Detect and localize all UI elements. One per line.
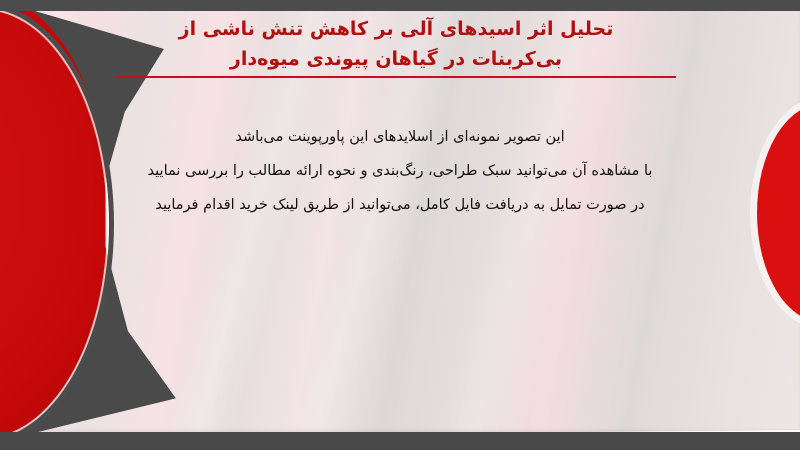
title-underline — [116, 76, 676, 78]
frame-top-band — [0, 0, 800, 11]
slide-body: این تصویر نمونه‌ای از اسلایدهای این پاور… — [95, 120, 705, 222]
red-ellipse-left-shading — [0, 0, 110, 440]
slide-title-line-2: بی‌کربنات در گیاهان پیوندی میوه‌دار — [100, 44, 692, 74]
slide-body-line-3: در صورت تمایل به دریافت فایل کامل، می‌تو… — [95, 188, 705, 222]
presentation-slide: تحلیل اثر اسیدهای آلی بر کاهش تنش ناشی ا… — [0, 0, 800, 450]
frame-bottom-band — [0, 432, 800, 450]
slide-body-line-2: با مشاهده آن می‌توانید سبک طراحی، رنگ‌بن… — [95, 154, 705, 188]
slide-title: تحلیل اثر اسیدهای آلی بر کاهش تنش ناشی ا… — [100, 14, 692, 78]
slide-title-line-1: تحلیل اثر اسیدهای آلی بر کاهش تنش ناشی ا… — [100, 14, 692, 44]
slide-body-line-1: این تصویر نمونه‌ای از اسلایدهای این پاور… — [95, 120, 705, 154]
